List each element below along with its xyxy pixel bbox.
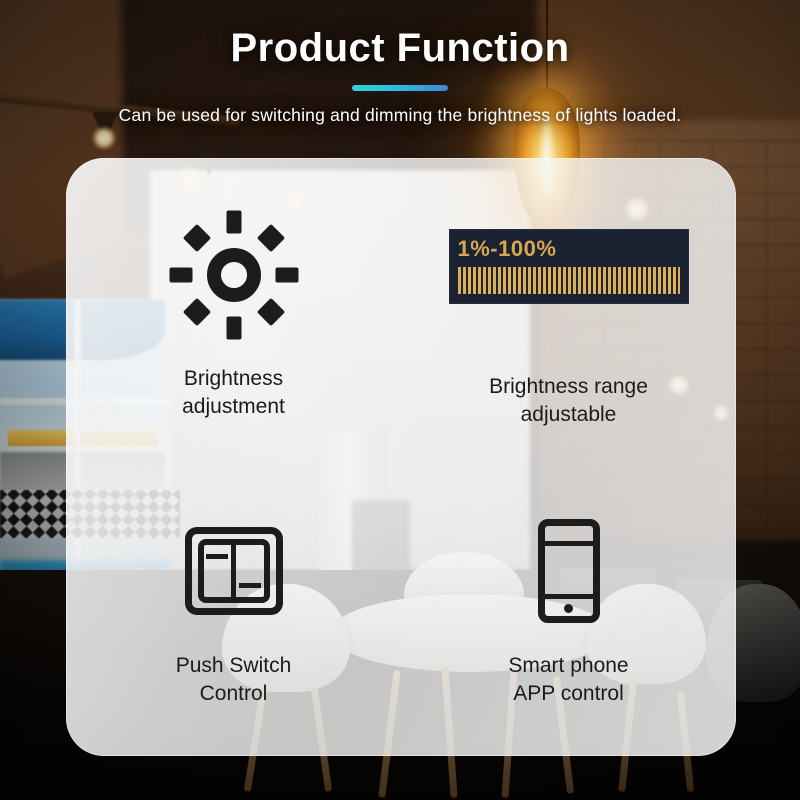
- feature-caption-line-1: Smart phone: [508, 652, 628, 680]
- feature-caption-line-2: Control: [176, 680, 292, 708]
- sun-ray: [182, 224, 210, 252]
- phone-screen-bottom-bar: [545, 594, 593, 599]
- feature-caption-line-2: adjustment: [182, 393, 285, 421]
- feature-art: [538, 506, 600, 636]
- product-function-banner: Product Function Can be used for switchi…: [0, 0, 800, 800]
- feature-art: [185, 506, 283, 636]
- features-grid: Brightness adjustment 1%-100% Brightness…: [66, 158, 736, 756]
- sun-core-ring: [207, 248, 261, 302]
- switch-inner-frame: [198, 539, 270, 603]
- feature-item-brightness-range: 1%-100% Brightness range adjustable: [401, 158, 736, 457]
- push-switch-icon: [185, 527, 283, 615]
- feature-caption-line-1: Brightness: [182, 365, 285, 393]
- header: Product Function Can be used for switchi…: [0, 26, 800, 126]
- switch-dash: [239, 583, 261, 588]
- brightness-sun-icon: [168, 209, 300, 341]
- brightness-range-stripes: [458, 267, 680, 294]
- feature-caption: Push Switch Control: [176, 652, 292, 707]
- switch-right-rocker: [236, 545, 264, 597]
- feature-caption-line-1: Push Switch: [176, 652, 292, 680]
- features-panel: Brightness adjustment 1%-100% Brightness…: [66, 158, 736, 756]
- switch-dash: [206, 554, 228, 559]
- sun-ray: [182, 298, 210, 326]
- sun-ray: [226, 210, 241, 233]
- feature-caption-line-2: adjustable: [489, 401, 648, 429]
- sun-ray: [169, 267, 192, 282]
- feature-art: [168, 195, 300, 355]
- feature-caption-line-1: Brightness range: [489, 373, 648, 401]
- smartphone-icon: [538, 519, 600, 623]
- brightness-range-bar: 1%-100%: [449, 229, 689, 304]
- sun-ray: [226, 316, 241, 339]
- brightness-range-label: 1%-100%: [458, 237, 680, 260]
- feature-caption-line-2: APP control: [508, 680, 628, 708]
- page-subtitle: Can be used for switching and dimming th…: [0, 105, 800, 126]
- feature-item-push-switch: Push Switch Control: [66, 457, 401, 756]
- feature-art: 1%-100%: [449, 187, 689, 347]
- sun-ray: [256, 298, 284, 326]
- feature-item-brightness-adjustment: Brightness adjustment: [66, 158, 401, 457]
- phone-speaker-bar: [545, 541, 593, 546]
- feature-caption: Brightness range adjustable: [489, 373, 648, 428]
- switch-left-rocker: [204, 545, 232, 597]
- feature-caption: Brightness adjustment: [182, 365, 285, 420]
- title-accent-bar: [352, 85, 448, 91]
- phone-home-button: [564, 604, 573, 613]
- sun-ray: [275, 267, 298, 282]
- sun-ray: [256, 224, 284, 252]
- feature-caption: Smart phone APP control: [508, 652, 628, 707]
- page-title: Product Function: [0, 26, 800, 71]
- feature-item-smartphone-app: Smart phone APP control: [401, 457, 736, 756]
